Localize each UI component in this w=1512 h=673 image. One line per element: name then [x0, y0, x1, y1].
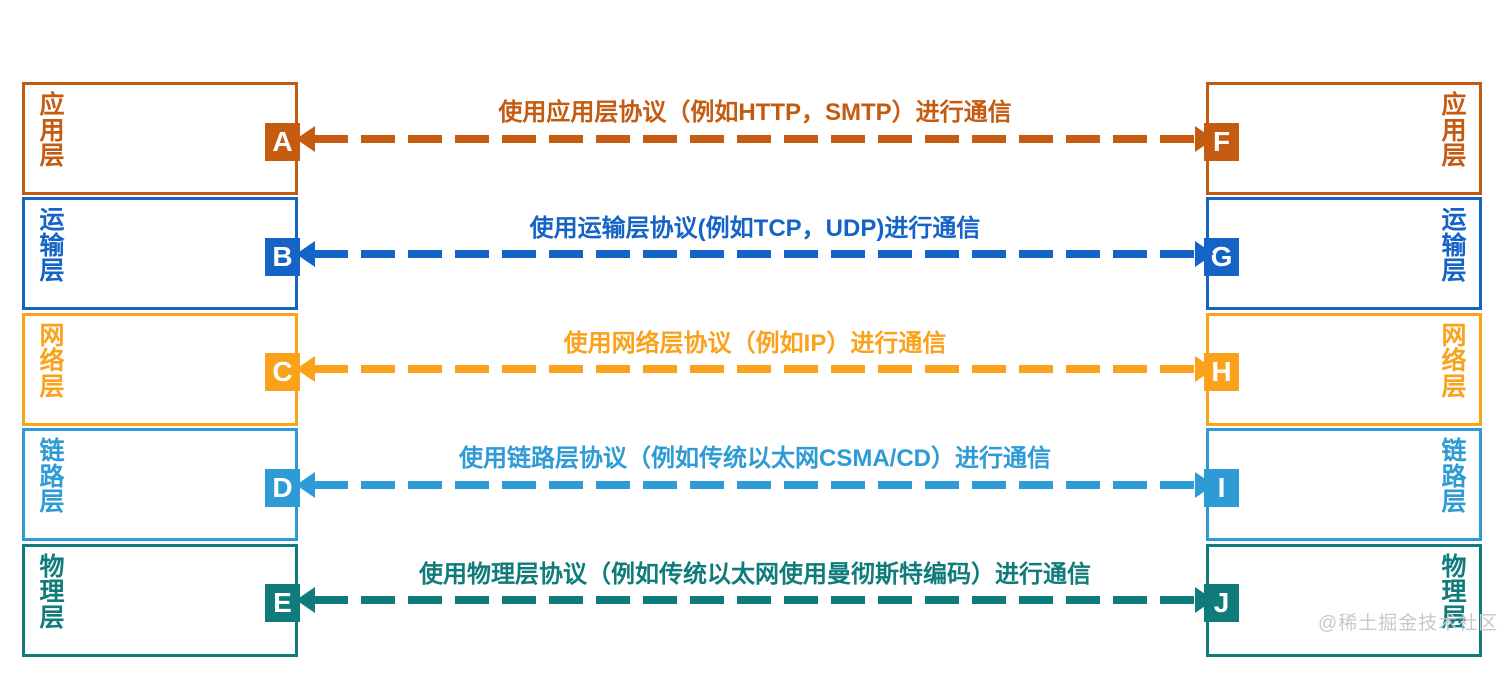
layer-label-right-3: 网络层: [1437, 324, 1471, 401]
arrow-right-icon-3: [1195, 356, 1214, 382]
protocol-stack-diagram: 应用层A运输层B网络层C链路层D物理层E 应用层F运输层G网络层H链路层I物理层…: [0, 0, 1512, 673]
layer-box-left-3[interactable]: 网络层C: [22, 313, 298, 426]
layer-box-right-4[interactable]: 链路层I: [1206, 428, 1482, 541]
layer-label-left-3: 网络层: [35, 324, 69, 401]
right-protocol-stack: 应用层F运输层G网络层H链路层I物理层J: [1206, 82, 1482, 659]
node-badge-a[interactable]: A: [265, 123, 300, 161]
node-badge-b[interactable]: B: [265, 238, 300, 276]
connector-caption-2: 使用运输层协议(例如TCP，UDP)进行通信: [300, 216, 1210, 242]
connector-caption-1: 使用应用层协议（例如HTTP，SMTP）进行通信: [300, 100, 1210, 126]
arrow-right-icon-4: [1195, 472, 1214, 498]
layer-box-right-1[interactable]: 应用层F: [1206, 82, 1482, 195]
connector-caption-3: 使用网络层协议（例如IP）进行通信: [300, 331, 1210, 357]
layer-label-right-2: 运输层: [1437, 208, 1471, 285]
arrow-right-icon-5: [1195, 587, 1214, 613]
arrow-left-icon-5: [296, 587, 315, 613]
layer-label-right-4: 链路层: [1437, 439, 1471, 516]
arrow-left-icon-3: [296, 356, 315, 382]
layer-box-right-2[interactable]: 运输层G: [1206, 197, 1482, 310]
layer-box-right-5[interactable]: 物理层J: [1206, 544, 1482, 657]
arrow-right-icon-1: [1195, 126, 1214, 152]
layer-box-left-4[interactable]: 链路层D: [22, 428, 298, 541]
layer-label-left-2: 运输层: [35, 208, 69, 285]
layer-label-left-1: 应用层: [35, 93, 69, 170]
arrow-right-icon-2: [1195, 241, 1214, 267]
arrow-left-icon-2: [296, 241, 315, 267]
node-badge-e[interactable]: E: [265, 584, 300, 622]
layer-box-left-2[interactable]: 运输层B: [22, 197, 298, 310]
layer-label-left-5: 物理层: [35, 555, 69, 632]
dashed-line-5: [314, 596, 1196, 604]
connector-caption-4: 使用链路层协议（例如传统以太网CSMA/CD）进行通信: [300, 446, 1210, 472]
dashed-line-3: [314, 365, 1196, 373]
node-badge-c[interactable]: C: [265, 353, 300, 391]
layer-label-right-1: 应用层: [1437, 93, 1471, 170]
layer-box-left-1[interactable]: 应用层A: [22, 82, 298, 195]
arrow-left-icon-1: [296, 126, 315, 152]
dashed-line-2: [314, 250, 1196, 258]
connector-caption-5: 使用物理层协议（例如传统以太网使用曼彻斯特编码）进行通信: [300, 562, 1210, 588]
dashed-line-4: [314, 481, 1196, 489]
layer-box-left-5[interactable]: 物理层E: [22, 544, 298, 657]
layer-label-right-5: 物理层: [1437, 555, 1471, 632]
layer-box-right-3[interactable]: 网络层H: [1206, 313, 1482, 426]
dashed-line-1: [314, 135, 1196, 143]
layer-label-left-4: 链路层: [35, 439, 69, 516]
node-badge-d[interactable]: D: [265, 469, 300, 507]
left-protocol-stack: 应用层A运输层B网络层C链路层D物理层E: [22, 82, 298, 659]
arrow-left-icon-4: [296, 472, 315, 498]
